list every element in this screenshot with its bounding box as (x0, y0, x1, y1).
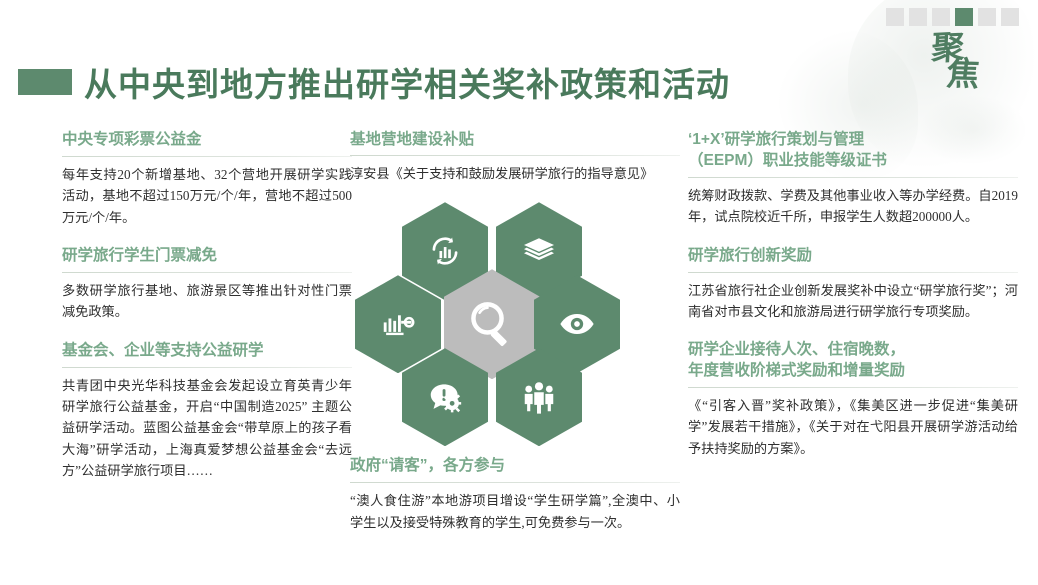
block-heading: 研学旅行学生门票减免 (62, 246, 352, 272)
block-body: 共青团中央光华科技基金会发起设立育英青少年研学旅行公益基金，开启“中国制造202… (62, 375, 352, 482)
block-body: 每年支持20个新增基地、32个营地开展研学实践活动，基地不超过150万元/个/年… (62, 164, 352, 228)
title-accent-bar (18, 69, 72, 95)
block-tiered-revenue-award: 研学企业接待人次、住宿晚数， 年度营收阶梯式奖励和增量奖励 《“引客入晋”奖补政… (688, 340, 1018, 459)
block-heading: 研学旅行创新奖励 (688, 246, 1018, 272)
brand-squares (886, 8, 1030, 26)
people-group-icon (520, 378, 558, 416)
block-base-camp-subsidy: 基地营地建设补贴 淳安县《关于支持和鼓励发展研学旅行的指导意见》 (350, 130, 680, 184)
block-heading: 研学企业接待人次、住宿晚数， 年度营收阶梯式奖励和增量奖励 (688, 340, 1018, 387)
hexagon-honeycomb-graphic (344, 202, 664, 452)
heading-divider (350, 155, 680, 156)
heading-divider (350, 482, 680, 483)
block-central-lottery-fund: 中央专项彩票公益金 每年支持20个新增基地、32个营地开展研学实践活动，基地不超… (62, 130, 352, 228)
block-eepm-certificate: ‘1+X’研学旅行策划与管理 （EEPM）职业技能等级证书 统筹财政拨款、学费及… (688, 130, 1018, 228)
slide-canvas: 聚 焦 从中央到地方推出研学相关奖补政策和活动 中央专项彩票公益金 每年支持20… (0, 0, 1038, 585)
layers-icon (521, 233, 557, 269)
brand-square-6 (1001, 8, 1019, 26)
brand-mark: 聚 焦 (878, 8, 1030, 138)
block-body: 《“引客入晋”奖补政策》，《集美区进一步促进“集美研学”发展若干措施》，《关于对… (688, 395, 1018, 459)
brand-square-3 (932, 8, 950, 26)
bar-chart-key-icon (379, 305, 417, 343)
block-foundation-support: 基金会、企业等支持公益研学 共青团中央光华科技基金会发起设立育英青少年研学旅行公… (62, 341, 352, 482)
block-heading: 基金会、企业等支持公益研学 (62, 341, 352, 367)
brand-square-4 (955, 8, 973, 26)
block-government-treat: 政府“请客”，各方参与 “澳人食住游”本地游项目增设“学生研学篇”,全澳中、小学… (350, 456, 680, 533)
brand-logo-calligraphy: 聚 焦 (878, 34, 1030, 91)
brand-square-5 (978, 8, 996, 26)
brand-square-1 (886, 8, 904, 26)
content-columns: 中央专项彩票公益金 每年支持20个新增基地、32个营地开展研学实践活动，基地不超… (0, 130, 1038, 580)
block-body: 江苏省旅行社企业创新发展奖补中设立“研学旅行奖”；河南省对市县文化和旅游局进行研… (688, 280, 1018, 323)
brand-logo-char-2: 焦 (893, 58, 1032, 93)
magnifier-icon (465, 297, 519, 351)
heading-divider (688, 272, 1018, 273)
page-title-row: 从中央到地方推出研学相关奖补政策和活动 (18, 58, 730, 106)
column-left: 中央专项彩票公益金 每年支持20个新增基地、32个营地开展研学实践活动，基地不超… (62, 130, 352, 500)
heading-divider (688, 177, 1018, 178)
block-body: “澳人食住游”本地游项目增设“学生研学篇”,全澳中、小学生以及接受特殊教育的学生… (350, 490, 680, 533)
block-ticket-discount: 研学旅行学生门票减免 多数研学旅行基地、旅游景区等推出针对性门票减免政策。 (62, 246, 352, 323)
eye-icon (557, 304, 597, 344)
block-body: 淳安县《关于支持和鼓励发展研学旅行的指导意见》 (350, 163, 680, 184)
heading-divider (62, 272, 352, 273)
block-heading: 基地营地建设补贴 (350, 130, 680, 155)
alert-gear-icon (426, 378, 464, 416)
brand-square-2 (909, 8, 927, 26)
column-right: ‘1+X’研学旅行策划与管理 （EEPM）职业技能等级证书 统筹财政拨款、学费及… (688, 130, 1018, 477)
block-heading: 政府“请客”，各方参与 (350, 456, 680, 482)
block-innovation-award: 研学旅行创新奖励 江苏省旅行社企业创新发展奖补中设立“研学旅行奖”；河南省对市县… (688, 246, 1018, 323)
refresh-chart-icon (426, 232, 464, 270)
column-middle: 基地营地建设补贴 淳安县《关于支持和鼓励发展研学旅行的指导意见》 (350, 130, 680, 551)
heading-divider (688, 387, 1018, 388)
page-title: 从中央到地方推出研学相关奖补政策和活动 (84, 58, 730, 106)
block-heading: 中央专项彩票公益金 (62, 130, 352, 156)
heading-divider (62, 156, 352, 157)
heading-divider (62, 367, 352, 368)
block-body: 统筹财政拨款、学费及其他事业收入等办学经费。自2019年，试点院校近千所，申报学… (688, 185, 1018, 228)
block-body: 多数研学旅行基地、旅游景区等推出针对性门票减免政策。 (62, 280, 352, 323)
